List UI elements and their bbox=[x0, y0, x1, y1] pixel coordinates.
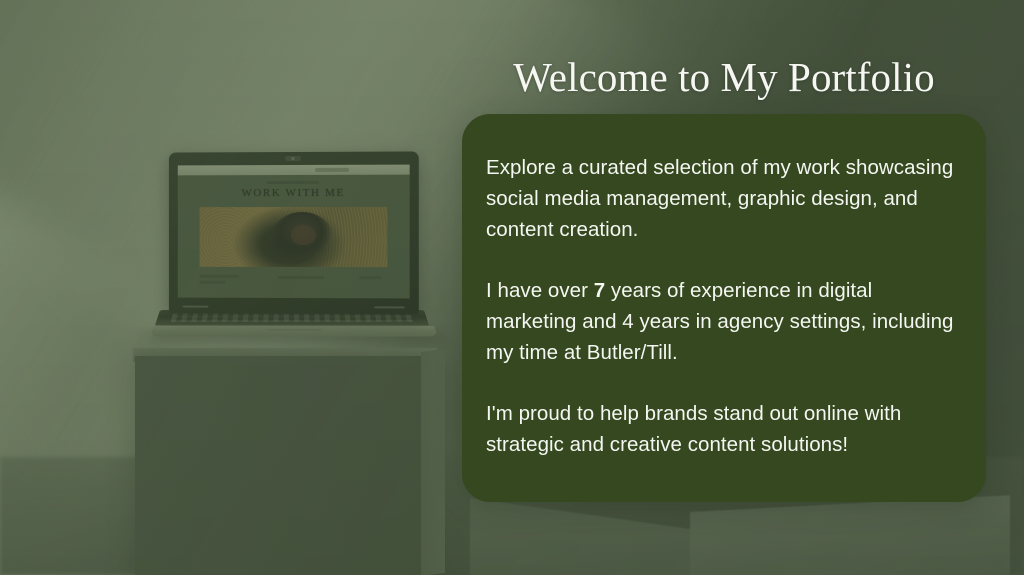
page-title: Welcome to My Portfolio bbox=[462, 53, 986, 101]
portfolio-intro-card: Explore a curated selection of my work s… bbox=[462, 114, 986, 502]
experience-lead-text: I have over bbox=[486, 279, 594, 302]
paragraph-closing: I'm proud to help brands stand out onlin… bbox=[486, 398, 956, 460]
paragraph-intro: Explore a curated selection of my work s… bbox=[486, 152, 956, 245]
slide-content: Welcome to My Portfolio Explore a curate… bbox=[0, 0, 1024, 575]
paragraph-experience: I have over 7 years of experience in dig… bbox=[486, 275, 956, 368]
years-experience-highlight: 7 bbox=[594, 279, 605, 302]
